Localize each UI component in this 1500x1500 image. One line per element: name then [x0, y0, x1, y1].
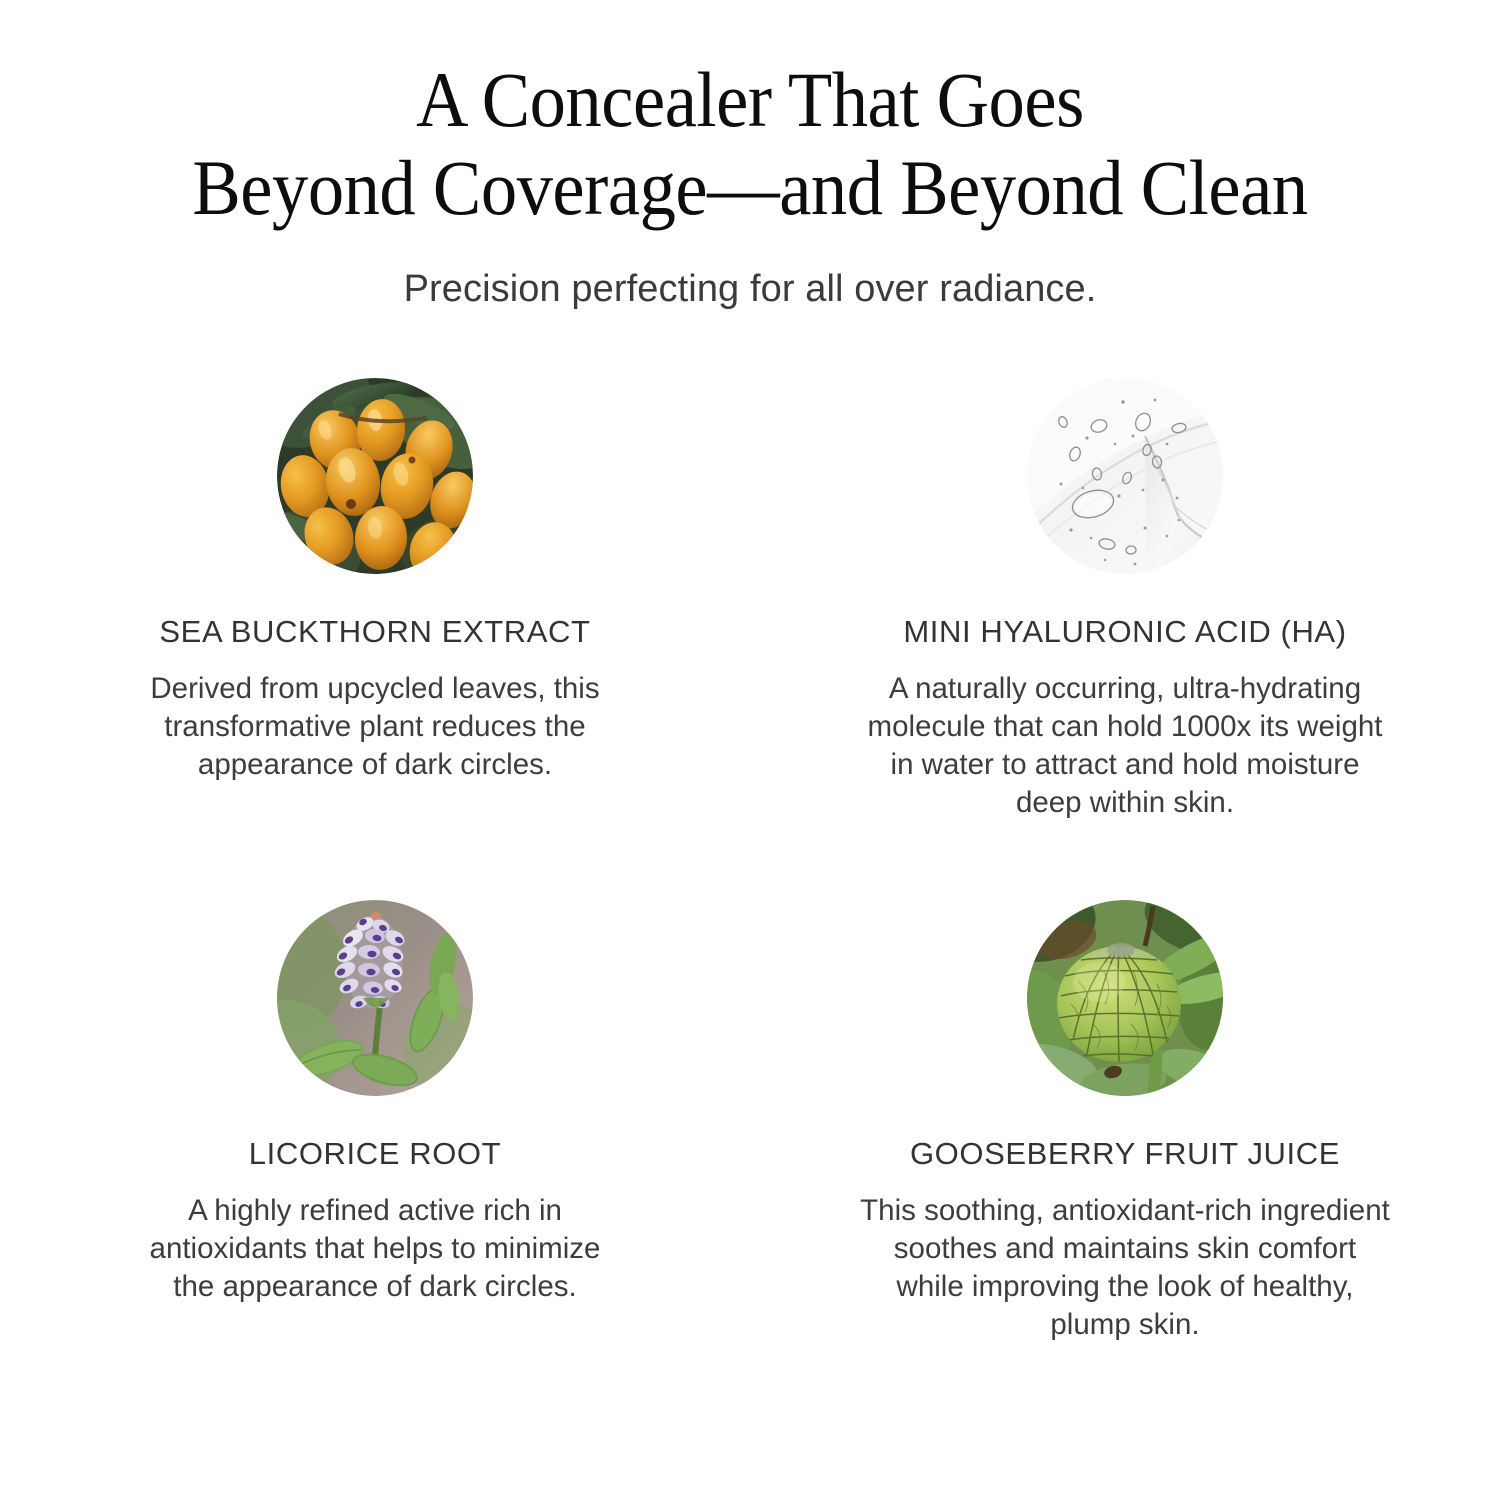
sea-buckthorn-berries-photo [277, 378, 473, 574]
ingredient-title: SEA BUCKTHORN EXTRACT [159, 614, 590, 650]
description-line: This soothing, antioxidant-rich ingredie… [860, 1192, 1390, 1230]
description-line: in water to attract and hold moisture [868, 746, 1383, 784]
licorice-root-flower-photo [277, 900, 473, 1096]
description-line: appearance of dark circles. [150, 746, 599, 784]
ingredient-title: MINI HYALURONIC ACID (HA) [903, 614, 1346, 650]
ingredient-card-hyaluronic-acid: MINI HYALURONIC ACID (HA) A naturally oc… [750, 378, 1500, 822]
ingredient-card-sea-buckthorn: SEA BUCKTHORN EXTRACT Derived from upcyc… [0, 378, 750, 822]
description-line: plump skin. [860, 1306, 1390, 1344]
ingredient-benefits-page: A Concealer That Goes Beyond Coverage—an… [0, 0, 1500, 1500]
description-line: antioxidants that helps to minimize [150, 1230, 601, 1268]
gooseberry-husk-photo [1027, 900, 1223, 1096]
headline-line-1: A Concealer That Goes [53, 56, 1448, 144]
description-line: deep within skin. [868, 784, 1383, 822]
ingredient-card-licorice-root: LICORICE ROOT A highly refined active ri… [0, 900, 750, 1344]
description-line: transformative plant reduces the [150, 708, 599, 746]
ingredient-description: A highly refined active rich in antioxid… [150, 1192, 601, 1306]
ingredient-title: LICORICE ROOT [249, 1136, 501, 1172]
description-line: soothes and maintains skin comfort [860, 1230, 1390, 1268]
ingredient-title: GOOSEBERRY FRUIT JUICE [910, 1136, 1340, 1172]
page-title: A Concealer That Goes Beyond Coverage—an… [53, 56, 1448, 232]
page-header: A Concealer That Goes Beyond Coverage—an… [0, 0, 1500, 312]
headline-line-2: Beyond Coverage—and Beyond Clean [53, 144, 1448, 232]
ingredient-description: A naturally occurring, ultra-hydrating m… [868, 670, 1383, 822]
ingredient-description: Derived from upcycled leaves, this trans… [150, 670, 599, 784]
ingredient-grid: SEA BUCKTHORN EXTRACT Derived from upcyc… [0, 378, 1500, 1344]
description-line: the appearance of dark circles. [150, 1268, 601, 1306]
page-subtitle: Precision perfecting for all over radian… [0, 266, 1500, 312]
ingredient-description: This soothing, antioxidant-rich ingredie… [860, 1192, 1390, 1344]
hyaluronic-acid-gel-texture-photo [1027, 378, 1223, 574]
description-line: A highly refined active rich in [150, 1192, 601, 1230]
description-line: A naturally occurring, ultra-hydrating [868, 670, 1383, 708]
description-line: molecule that can hold 1000x its weight [868, 708, 1383, 746]
ingredient-card-gooseberry: GOOSEBERRY FRUIT JUICE This soothing, an… [750, 900, 1500, 1344]
description-line: while improving the look of healthy, [860, 1268, 1390, 1306]
description-line: Derived from upcycled leaves, this [150, 670, 599, 708]
